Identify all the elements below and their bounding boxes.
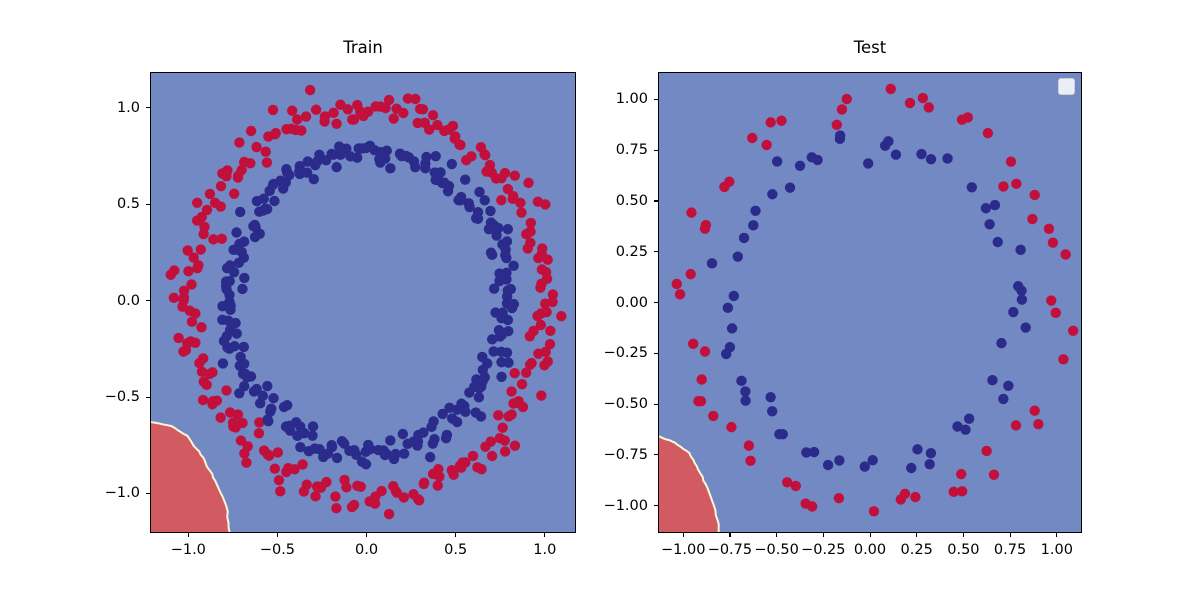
scatter-point-class-0 — [242, 372, 252, 382]
scatter-point-class-0 — [795, 161, 805, 171]
scatter-point-class-1 — [262, 157, 272, 167]
scatter-point-class-1 — [287, 106, 297, 116]
scatter-point-class-0 — [385, 435, 395, 445]
y-tick-mark — [654, 251, 658, 252]
scatter-point-class-0 — [332, 453, 342, 463]
y-tick-mark — [654, 200, 658, 201]
scatter-point-class-0 — [308, 421, 318, 431]
scatter-point-class-1 — [688, 339, 698, 349]
x-tick-mark — [776, 533, 777, 537]
x-tick-label: −0.75 — [708, 543, 752, 558]
scatter-point-class-1 — [672, 279, 682, 289]
scatter-point-class-0 — [326, 440, 336, 450]
scatter-point-class-1 — [169, 293, 179, 303]
x-tick-label: 0.5 — [444, 543, 467, 558]
x-tick-mark — [823, 533, 824, 537]
scatter-point-class-1 — [766, 117, 776, 127]
x-tick-label: 0.75 — [994, 543, 1026, 558]
scatter-point-class-1 — [487, 451, 497, 461]
scatter-point-class-0 — [486, 217, 496, 227]
axes-train-plot-area[interactable] — [150, 72, 576, 533]
scatter-point-class-1 — [173, 333, 183, 343]
x-tick-label: −0.50 — [754, 543, 798, 558]
scatter-point-class-0 — [912, 444, 922, 454]
scatter-point-class-1 — [949, 487, 959, 497]
scatter-point-class-1 — [428, 110, 438, 120]
scatter-point-class-0 — [996, 338, 1006, 348]
y-tick-mark — [654, 505, 658, 506]
scatter-point-class-0 — [254, 206, 264, 216]
scatter-point-class-1 — [493, 410, 503, 420]
scatter-point-class-1 — [1011, 420, 1021, 430]
scatter-point-class-0 — [981, 203, 991, 213]
scatter-point-class-1 — [216, 201, 226, 211]
scatter-point-class-0 — [960, 424, 970, 434]
y-tick-label: −1.00 — [604, 498, 648, 513]
y-tick-mark — [146, 204, 150, 205]
scatter-point-class-0 — [421, 152, 431, 162]
scatter-point-class-0 — [235, 207, 245, 217]
scatter-point-class-0 — [723, 303, 733, 313]
scatter-point-class-1 — [215, 412, 225, 422]
scatter-point-class-0 — [398, 429, 408, 439]
y-tick-mark — [654, 454, 658, 455]
scatter-point-class-1 — [302, 479, 312, 489]
scatter-point-class-0 — [250, 232, 260, 242]
scatter-point-class-0 — [740, 395, 750, 405]
scatter-point-class-1 — [384, 509, 394, 519]
scatter-point-class-1 — [476, 464, 486, 474]
scatter-point-class-1 — [526, 358, 536, 368]
scatter-point-class-0 — [263, 416, 273, 426]
scatter-point-class-1 — [918, 93, 928, 103]
scatter-point-class-0 — [410, 162, 420, 172]
scatter-point-class-1 — [696, 396, 706, 406]
scatter-point-class-0 — [863, 158, 873, 168]
scatter-point-class-1 — [208, 234, 218, 244]
scatter-point-class-0 — [353, 143, 363, 153]
scatter-point-class-0 — [739, 233, 749, 243]
scatter-point-class-1 — [497, 423, 507, 433]
scatter-point-class-0 — [399, 449, 409, 459]
x-tick-label: 1.00 — [1041, 543, 1073, 558]
scatter-point-class-1 — [510, 441, 520, 451]
scatter-point-class-1 — [216, 181, 226, 191]
scatter-point-class-1 — [331, 503, 341, 513]
scatter-point-class-0 — [502, 236, 512, 246]
scatter-point-class-1 — [1030, 190, 1040, 200]
scatter-point-class-0 — [767, 406, 777, 416]
scatter-point-class-1 — [192, 198, 202, 208]
scatter-point-class-1 — [251, 142, 261, 152]
scatter-point-class-0 — [460, 175, 470, 185]
scatter-point-class-1 — [234, 137, 244, 147]
scatter-point-class-1 — [1060, 249, 1070, 259]
y-tick-label: 1.0 — [117, 100, 140, 115]
scatter-point-class-0 — [926, 154, 936, 164]
scatter-point-class-0 — [767, 189, 777, 199]
scatter-point-class-0 — [801, 447, 811, 457]
scatter-point-class-0 — [494, 325, 504, 335]
scatter-point-class-1 — [510, 171, 520, 181]
scatter-point-class-1 — [274, 475, 284, 485]
scatter-point-class-0 — [942, 153, 952, 163]
scatter-point-class-1 — [837, 104, 847, 114]
test-scatter-canvas — [659, 73, 1082, 533]
x-tick-label: −0.25 — [801, 543, 845, 558]
scatter-point-class-1 — [178, 346, 188, 356]
scatter-point-class-0 — [509, 299, 519, 309]
scatter-point-class-0 — [294, 166, 304, 176]
scatter-point-class-1 — [245, 158, 255, 168]
scatter-point-class-0 — [503, 224, 513, 234]
scatter-point-class-1 — [675, 289, 685, 299]
scatter-point-class-0 — [229, 341, 239, 351]
scatter-point-class-1 — [196, 244, 206, 254]
scatter-point-class-1 — [956, 469, 966, 479]
scatter-point-class-1 — [246, 126, 256, 136]
y-tick-mark — [146, 397, 150, 398]
scatter-point-class-1 — [433, 464, 443, 474]
scatter-point-class-1 — [791, 481, 801, 491]
scatter-point-class-0 — [237, 284, 247, 294]
scatter-point-class-0 — [721, 349, 731, 359]
scatter-point-class-1 — [1048, 237, 1058, 247]
scatter-point-class-1 — [776, 116, 786, 126]
scatter-point-class-0 — [282, 400, 292, 410]
scatter-point-class-0 — [774, 429, 784, 439]
scatter-point-class-1 — [533, 253, 543, 263]
scatter-point-class-1 — [719, 182, 729, 192]
scatter-point-class-1 — [201, 380, 211, 390]
scatter-point-class-0 — [395, 149, 405, 159]
scatter-point-class-0 — [772, 156, 782, 166]
scatter-point-class-1 — [545, 339, 555, 349]
x-tick-mark — [544, 533, 545, 537]
scatter-point-class-1 — [726, 422, 736, 432]
scatter-point-class-1 — [869, 506, 879, 516]
scatter-point-class-0 — [268, 393, 278, 403]
scatter-point-class-1 — [391, 103, 401, 113]
scatter-point-class-1 — [198, 353, 208, 363]
scatter-point-class-0 — [967, 182, 977, 192]
scatter-point-class-0 — [496, 372, 506, 382]
scatter-point-class-0 — [452, 417, 462, 427]
scatter-point-class-1 — [205, 189, 215, 199]
scatter-point-class-1 — [262, 449, 272, 459]
scatter-point-class-0 — [431, 151, 441, 161]
scatter-point-class-1 — [761, 140, 771, 150]
y-tick-mark — [146, 300, 150, 301]
scatter-point-class-1 — [263, 131, 273, 141]
scatter-point-class-1 — [905, 98, 915, 108]
scatter-point-class-0 — [993, 237, 1003, 247]
y-tick-label: −1.0 — [105, 486, 140, 501]
scatter-point-class-1 — [842, 94, 852, 104]
scatter-point-class-0 — [361, 459, 371, 469]
scatter-point-class-1 — [989, 470, 999, 480]
scatter-point-class-0 — [486, 248, 496, 258]
x-tick-label: 0.50 — [947, 543, 979, 558]
legend-box[interactable] — [1058, 78, 1075, 95]
scatter-point-class-0 — [924, 459, 934, 469]
scatter-point-class-1 — [910, 492, 920, 502]
scatter-point-class-0 — [278, 183, 288, 193]
scatter-point-class-0 — [420, 163, 430, 173]
scatter-point-class-0 — [252, 196, 262, 206]
figure-canvas: Train −1.0−0.50.00.51.0−1.0−0.50.00.51.0… — [0, 0, 1200, 600]
scatter-point-class-0 — [707, 258, 717, 268]
scatter-point-class-1 — [1027, 214, 1037, 224]
scatter-point-class-0 — [239, 273, 249, 283]
scatter-point-class-0 — [447, 159, 457, 169]
y-tick-mark — [654, 353, 658, 354]
scatter-point-class-1 — [708, 411, 718, 421]
x-tick-mark — [366, 533, 367, 537]
x-tick-mark — [963, 533, 964, 537]
scatter-point-class-1 — [254, 428, 264, 438]
scatter-point-class-1 — [541, 307, 551, 317]
scatter-point-class-0 — [740, 386, 750, 396]
scatter-point-class-0 — [1017, 294, 1027, 304]
scatter-point-class-1 — [998, 181, 1008, 191]
scatter-point-class-1 — [415, 104, 425, 114]
scatter-point-class-0 — [496, 347, 506, 357]
x-tick-label: 0.25 — [901, 543, 933, 558]
y-tick-mark — [146, 493, 150, 494]
scatter-point-class-0 — [218, 358, 228, 368]
scatter-point-class-0 — [987, 375, 997, 385]
scatter-point-class-0 — [269, 196, 279, 206]
scatter-point-class-1 — [533, 196, 543, 206]
y-tick-label: −0.5 — [105, 390, 140, 405]
scatter-point-class-1 — [433, 480, 443, 490]
scatter-point-class-1 — [217, 168, 227, 178]
scatter-point-class-1 — [963, 112, 973, 122]
scatter-point-class-0 — [232, 328, 242, 338]
scatter-point-class-1 — [523, 178, 533, 188]
scatter-point-class-1 — [221, 385, 231, 395]
scatter-point-class-0 — [503, 358, 513, 368]
y-tick-mark — [146, 107, 150, 108]
scatter-point-class-1 — [486, 436, 496, 446]
scatter-point-class-1 — [273, 447, 283, 457]
y-tick-mark — [654, 99, 658, 100]
y-tick-label: 0.25 — [616, 244, 648, 259]
scatter-point-class-1 — [495, 433, 505, 443]
scatter-point-class-1 — [228, 421, 238, 431]
scatter-point-class-1 — [745, 456, 755, 466]
scatter-point-class-1 — [270, 463, 280, 473]
y-tick-label: 0.50 — [616, 194, 648, 209]
scatter-point-class-1 — [697, 374, 707, 384]
train-scatter-canvas — [151, 73, 576, 533]
scatter-point-class-0 — [385, 163, 395, 173]
x-tick-mark — [188, 533, 189, 537]
y-tick-label: −0.75 — [604, 448, 648, 463]
scatter-point-class-0 — [239, 359, 249, 369]
scatter-point-class-1 — [535, 283, 545, 293]
scatter-point-class-1 — [196, 322, 206, 332]
scatter-point-class-1 — [1058, 354, 1068, 364]
scatter-point-class-1 — [305, 85, 315, 95]
scatter-point-class-1 — [268, 105, 278, 115]
scatter-point-class-1 — [331, 119, 341, 129]
scatter-point-class-0 — [990, 200, 1000, 210]
scatter-point-class-0 — [1013, 281, 1023, 291]
scatter-point-class-0 — [428, 416, 438, 426]
scatter-point-class-1 — [192, 263, 202, 273]
scatter-point-class-0 — [456, 192, 466, 202]
scatter-point-class-0 — [867, 455, 877, 465]
scatter-point-class-1 — [744, 440, 754, 450]
scatter-point-class-1 — [229, 189, 239, 199]
y-tick-label: 1.00 — [616, 92, 648, 107]
scatter-point-class-0 — [331, 162, 341, 172]
x-tick-label: −1.0 — [171, 543, 206, 558]
y-tick-mark — [654, 404, 658, 405]
scatter-point-class-1 — [275, 486, 285, 496]
y-tick-label: −0.50 — [604, 397, 648, 412]
panel-train: Train −1.0−0.50.00.51.0−1.0−0.50.00.51.0 — [150, 72, 576, 533]
scatter-point-class-1 — [506, 409, 516, 419]
scatter-point-class-0 — [425, 452, 435, 462]
scatter-point-class-1 — [543, 356, 553, 366]
scatter-point-class-1 — [545, 326, 555, 336]
scatter-point-class-0 — [231, 227, 241, 237]
scatter-point-class-0 — [729, 291, 739, 301]
scatter-point-class-1 — [1033, 419, 1043, 429]
x-tick-mark — [729, 533, 730, 537]
scatter-point-class-0 — [255, 398, 265, 408]
x-tick-mark — [870, 533, 871, 537]
scatter-point-class-1 — [747, 133, 757, 143]
scatter-point-class-1 — [321, 477, 331, 487]
scatter-point-class-1 — [349, 114, 359, 124]
scatter-point-class-0 — [459, 401, 469, 411]
axes-test-plot-area[interactable] — [658, 72, 1082, 533]
scatter-point-class-1 — [198, 395, 208, 405]
scatter-point-class-1 — [537, 243, 547, 253]
scatter-point-class-1 — [311, 105, 321, 115]
scatter-point-class-0 — [736, 376, 746, 386]
scatter-point-class-1 — [1068, 326, 1078, 336]
x-tick-label: −0.5 — [260, 543, 295, 558]
scatter-point-class-1 — [301, 111, 311, 121]
panel-train-title: Train — [150, 40, 576, 57]
y-tick-label: 0.75 — [616, 143, 648, 158]
scatter-point-class-1 — [261, 146, 271, 156]
scatter-point-class-0 — [234, 388, 244, 398]
scatter-point-class-1 — [700, 346, 710, 356]
scatter-point-class-0 — [428, 438, 438, 448]
y-tick-mark — [654, 302, 658, 303]
scatter-point-class-1 — [548, 289, 558, 299]
scatter-point-class-1 — [281, 124, 291, 134]
scatter-point-class-0 — [765, 392, 775, 402]
scatter-point-class-0 — [229, 267, 239, 277]
scatter-point-class-0 — [477, 352, 487, 362]
scatter-point-class-1 — [1046, 295, 1056, 305]
scatter-point-class-1 — [983, 128, 993, 138]
scatter-point-class-1 — [292, 114, 302, 124]
scatter-point-class-1 — [537, 264, 547, 274]
scatter-point-class-0 — [916, 149, 926, 159]
x-tick-mark — [1010, 533, 1011, 537]
scatter-point-class-1 — [347, 502, 357, 512]
scatter-point-class-1 — [339, 475, 349, 485]
scatter-point-class-1 — [503, 184, 513, 194]
scatter-point-class-1 — [310, 491, 320, 501]
scatter-point-class-0 — [964, 414, 974, 424]
scatter-point-class-0 — [262, 381, 272, 391]
scatter-point-class-1 — [461, 155, 471, 165]
scatter-point-class-0 — [430, 167, 440, 177]
x-tick-label: 0.00 — [854, 543, 886, 558]
scatter-point-class-1 — [389, 113, 399, 123]
scatter-point-class-0 — [807, 152, 817, 162]
x-tick-mark — [916, 533, 917, 537]
x-tick-mark — [455, 533, 456, 537]
scatter-point-class-0 — [727, 323, 737, 333]
y-tick-label: 0.5 — [117, 197, 140, 212]
scatter-point-class-0 — [312, 156, 322, 166]
scatter-point-class-1 — [686, 207, 696, 217]
scatter-point-class-1 — [900, 489, 910, 499]
x-tick-mark — [1056, 533, 1057, 537]
x-tick-mark — [683, 533, 684, 537]
scatter-point-class-1 — [352, 100, 362, 110]
scatter-point-class-1 — [509, 368, 519, 378]
scatter-point-class-0 — [1020, 322, 1030, 332]
scatter-point-class-1 — [190, 338, 200, 348]
scatter-point-class-1 — [198, 229, 208, 239]
scatter-point-class-1 — [834, 493, 844, 503]
scatter-point-class-0 — [834, 455, 844, 465]
scatter-point-class-1 — [886, 84, 896, 94]
scatter-point-class-0 — [733, 252, 743, 262]
scatter-point-class-1 — [532, 311, 542, 321]
scatter-point-class-1 — [701, 220, 711, 230]
scatter-point-class-0 — [1003, 381, 1013, 391]
scatter-point-class-0 — [231, 244, 241, 254]
scatter-point-class-0 — [503, 326, 513, 336]
scatter-point-class-1 — [506, 386, 516, 396]
scatter-point-class-0 — [998, 394, 1008, 404]
scatter-point-class-0 — [1008, 307, 1018, 317]
scatter-point-class-1 — [297, 459, 307, 469]
scatter-point-class-1 — [320, 111, 330, 121]
scatter-point-class-1 — [924, 102, 934, 112]
scatter-point-class-0 — [474, 187, 484, 197]
scatter-point-class-1 — [356, 482, 366, 492]
scatter-point-class-1 — [476, 142, 486, 152]
scatter-point-class-1 — [686, 269, 696, 279]
scatter-point-class-1 — [518, 402, 528, 412]
panel-test-title: Test — [658, 40, 1082, 57]
scatter-point-class-1 — [536, 320, 546, 330]
scatter-point-class-1 — [330, 491, 340, 501]
scatter-point-class-1 — [424, 124, 434, 134]
scatter-point-class-0 — [748, 220, 758, 230]
scatter-point-class-1 — [1051, 308, 1061, 318]
scatter-point-class-0 — [307, 431, 317, 441]
scatter-point-class-1 — [403, 93, 413, 103]
scatter-point-class-1 — [832, 120, 842, 130]
x-tick-mark — [277, 533, 278, 537]
scatter-point-class-0 — [906, 463, 916, 473]
scatter-point-class-0 — [785, 182, 795, 192]
